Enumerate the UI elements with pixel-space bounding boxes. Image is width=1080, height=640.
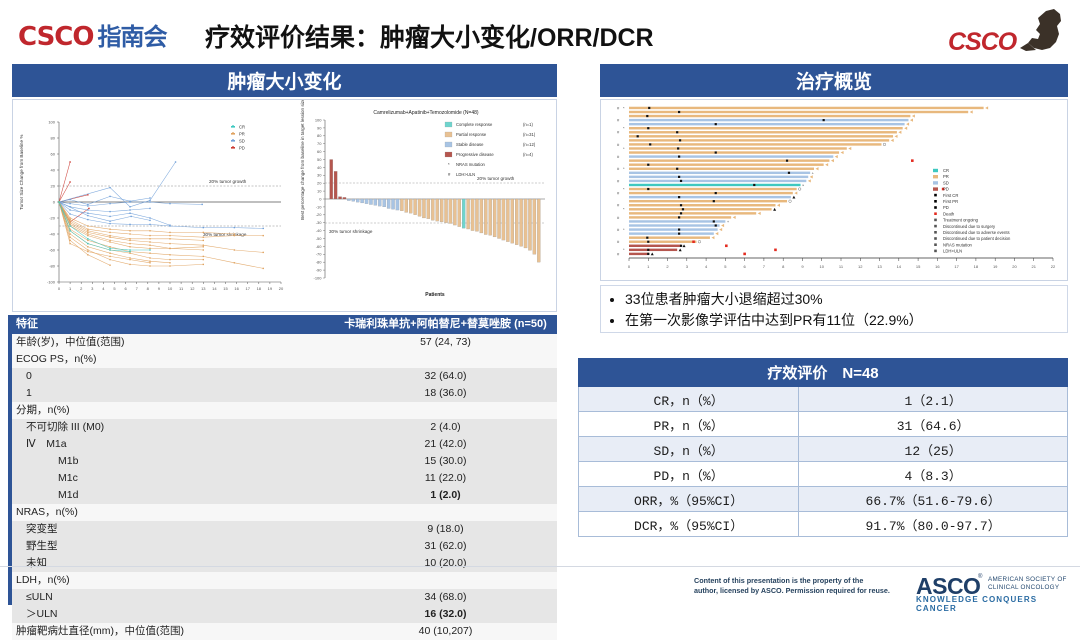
svg-text:14: 14 [897, 264, 902, 269]
svg-text:30: 30 [317, 173, 322, 178]
svg-text:PD: PD [943, 187, 949, 192]
table-row: M1c11 (22.0) [12, 470, 557, 487]
svg-text:16: 16 [234, 286, 239, 291]
svg-text:#: # [617, 227, 620, 232]
svg-text:#: # [617, 105, 620, 110]
footer-divider [0, 566, 1080, 567]
csco-mark-text: CSCO [948, 28, 1016, 57]
svg-text:#: # [617, 251, 620, 256]
svg-text:20: 20 [1012, 264, 1017, 269]
bullet-item: 33位患者肿瘤大小退缩超过30% [625, 289, 1061, 310]
efficacy-value: 31（64.6） [799, 412, 1068, 437]
svg-text:50: 50 [317, 157, 322, 162]
table-row: 突变型9 (18.0) [12, 521, 557, 538]
svg-text:80: 80 [51, 136, 56, 141]
svg-text:4: 4 [102, 286, 105, 291]
svg-text:*: * [448, 162, 450, 167]
svg-text:PD: PD [943, 205, 949, 210]
svg-text:Discontinued due to patient de: Discontinued due to patient decision [943, 236, 1011, 241]
svg-text:10: 10 [168, 286, 173, 291]
row-value: 40 (10,207) [334, 623, 557, 640]
svg-text:#: # [617, 166, 620, 171]
svg-text:CR: CR [943, 168, 949, 173]
svg-text:#: # [617, 239, 620, 244]
row-label: 0 [12, 368, 334, 385]
table-row: 不可切除 III (M0)2 (4.0) [12, 419, 557, 436]
svg-text:-60: -60 [316, 244, 323, 249]
row-value: 32 (64.0) [334, 368, 557, 385]
svg-text:17: 17 [954, 264, 959, 269]
svg-text:20: 20 [279, 286, 284, 291]
svg-text:40: 40 [317, 165, 322, 170]
svg-text:11: 11 [839, 264, 844, 269]
panel-left-title: 肿瘤大小变化 [227, 67, 341, 94]
svg-text:*: * [623, 126, 625, 131]
footer-note-line2: author, licensed by ASCO. Permission req… [694, 586, 894, 596]
svg-text:12: 12 [858, 264, 863, 269]
row-value [334, 572, 557, 589]
annotation-tumor-growth: 20% tumor growth [209, 179, 247, 184]
svg-text:First CR: First CR [943, 193, 958, 198]
svg-text:*: * [623, 247, 625, 252]
svg-text:(n=4): (n=4) [523, 152, 533, 157]
csco-beast-icon [1016, 8, 1064, 54]
efficacy-value: 66.7%（51.6-79.6） [799, 487, 1068, 512]
efficacy-row: SD，n（%）12（25） [579, 437, 1068, 462]
row-value: 16 (32.0) [334, 606, 557, 623]
svg-text:11: 11 [179, 286, 184, 291]
row-label: Ⅳ M1a [12, 436, 334, 453]
svg-text:90: 90 [317, 125, 322, 130]
svg-text:*: * [623, 166, 625, 171]
efficacy-label: ORR，%（95%CI） [579, 487, 799, 512]
efficacy-row: PD，n（%）4（8.3） [579, 462, 1068, 487]
efficacy-label: SD，n（%） [579, 437, 799, 462]
efficacy-label: CR，n（%） [579, 387, 799, 412]
svg-text:6: 6 [124, 286, 127, 291]
row-label: 肿瘤靶病灶直径(mm)，中位值(范围) [12, 623, 334, 640]
row-value: 57 (24, 73) [334, 334, 557, 351]
svg-text:1: 1 [647, 264, 650, 269]
svg-text:10: 10 [820, 264, 825, 269]
svg-text:100: 100 [48, 120, 55, 125]
table-row: ECOG PS，n(%) [12, 351, 557, 368]
asco-sub-line1: AMERICAN SOCIETY OF [988, 576, 1067, 583]
row-label: ECOG PS，n(%) [12, 351, 334, 368]
svg-text:21: 21 [1032, 264, 1037, 269]
asco-logo: ASCO ® AMERICAN SOCIETY OF CLINICAL ONCO… [916, 573, 1076, 603]
svg-text:15: 15 [223, 286, 228, 291]
table-row: 分期，n(%) [12, 402, 557, 419]
svg-text:PR: PR [943, 174, 949, 179]
table-row: M1d1 (2.0) [12, 487, 557, 504]
row-label: M1b [12, 453, 334, 470]
svg-text:LDH>ULN: LDH>ULN [943, 249, 962, 254]
svg-text:+: + [727, 219, 730, 224]
svg-text:Progressive disease: Progressive disease [456, 152, 494, 157]
col-header-arm: 卡瑞利珠单抗+阿帕替尼+替莫唑胺 (n=50) [334, 315, 557, 334]
row-value: 9 (18.0) [334, 521, 557, 538]
svg-text:-80: -80 [49, 264, 56, 269]
svg-text:17: 17 [245, 286, 250, 291]
row-value: 10 (20.0) [334, 555, 557, 572]
efficacy-value: 1（2.1） [799, 387, 1068, 412]
row-label: 突变型 [12, 521, 334, 538]
svg-text:CR: CR [239, 125, 245, 130]
svg-text:10: 10 [317, 189, 322, 194]
svg-text:#: # [617, 215, 620, 220]
efficacy-row: DCR，%（95%CI）91.7%（80.0-97.7） [579, 512, 1068, 537]
table-row: Ⅳ M1a21 (42.0) [12, 436, 557, 453]
svg-text:-20: -20 [316, 212, 323, 217]
svg-text:*: * [623, 207, 625, 212]
svg-text:-40: -40 [49, 232, 56, 237]
footer-copyright: Content of this presentation is the prop… [694, 576, 894, 595]
svg-text:18: 18 [974, 264, 979, 269]
svg-text:-100: -100 [313, 275, 322, 280]
svg-text:#: # [617, 203, 620, 208]
svg-text:Discontinued due to adverse ev: Discontinued due to adverse events [943, 230, 1010, 235]
svg-text:SD: SD [239, 139, 245, 144]
svg-text:0: 0 [58, 286, 61, 291]
svg-text:#: # [617, 118, 620, 123]
svg-text:0: 0 [628, 264, 631, 269]
efficacy-table: 疗效评价 N=48CR，n（%）1（2.1）PR，n（%）31（64.6）SD，… [578, 358, 1068, 537]
svg-text:5: 5 [724, 264, 727, 269]
svg-text:Complete response: Complete response [456, 122, 493, 127]
svg-text:7: 7 [136, 286, 139, 291]
row-label: 未知 [12, 555, 334, 572]
table-row: 118 (36.0) [12, 385, 557, 402]
row-label: LDH，n(%) [12, 572, 334, 589]
wf-annotation-shrinkage: 30% tumor shrinkage [329, 229, 373, 234]
svg-text:3: 3 [686, 264, 689, 269]
table-row: 野生型31 (62.0) [12, 538, 557, 555]
svg-text:15: 15 [916, 264, 921, 269]
efficacy-label: PR，n（%） [579, 412, 799, 437]
efficacy-row: CR，n（%）1（2.1） [579, 387, 1068, 412]
row-label: 野生型 [12, 538, 334, 555]
key-findings: 33位患者肿瘤大小退缩超过30%在第一次影像学评估中达到PR有11位（22.9%… [600, 285, 1068, 333]
svg-text:60: 60 [317, 149, 322, 154]
asco-trademark: ® [978, 574, 982, 580]
table-row: NRAS，n(%) [12, 504, 557, 521]
svg-text:*: * [623, 186, 625, 191]
row-label: M1d [12, 487, 334, 504]
svg-text:9: 9 [158, 286, 161, 291]
svg-text:Partial response: Partial response [456, 132, 487, 137]
svg-text:60: 60 [51, 152, 56, 157]
svg-text:12: 12 [190, 286, 195, 291]
row-value: 34 (68.0) [334, 589, 557, 606]
table-row: 肿瘤靶病灶直径(mm)，中位值(范围)40 (10,207) [12, 623, 557, 640]
row-value [334, 504, 557, 521]
guide-logo-text: 指南会 [97, 24, 166, 51]
efficacy-value: 12（25） [799, 437, 1068, 462]
svg-text:8: 8 [782, 264, 785, 269]
svg-text:NRAS mutation: NRAS mutation [943, 242, 973, 247]
svg-text:13: 13 [201, 286, 206, 291]
svg-text:-100: -100 [47, 280, 56, 285]
footer-note-line1: Content of this presentation is the prop… [694, 576, 894, 586]
svg-text:20: 20 [317, 181, 322, 186]
svg-text:SD: SD [943, 180, 949, 185]
svg-text:7: 7 [763, 264, 766, 269]
row-label: 1 [12, 385, 334, 402]
characteristics-table: 特征卡瑞利珠单抗+阿帕替尼+替莫唑胺 (n=50)年龄(岁)，中位值(范围)57… [12, 315, 557, 640]
row-label: 分期，n(%) [12, 402, 334, 419]
svg-text:*: * [623, 146, 625, 151]
efficacy-label: DCR，%（95%CI） [579, 512, 799, 537]
asco-subtitle: AMERICAN SOCIETY OF CLINICAL ONCOLOGY [988, 576, 1067, 592]
svg-text:+: + [812, 170, 815, 175]
row-value: 11 (22.0) [334, 470, 557, 487]
efficacy-row: PR，n（%）31（64.6） [579, 412, 1068, 437]
row-label: 年龄(岁)，中位值(范围) [12, 334, 334, 351]
table-row: 年龄(岁)，中位值(范围)57 (24, 73) [12, 334, 557, 351]
efficacy-row: ORR，%（95%CI）66.7%（51.6-79.6） [579, 487, 1068, 512]
svg-text:18: 18 [257, 286, 262, 291]
efficacy-header-row: 疗效评价 N=48 [579, 359, 1068, 387]
table-row: M1b15 (30.0) [12, 453, 557, 470]
waterfall-y-axis-label: Best percentage change from baseline in … [300, 100, 305, 220]
spider-plot: 01234567891011121314151617181920-100-80-… [13, 100, 295, 313]
svg-text:(n=1): (n=1) [523, 122, 533, 127]
efficacy-header-text: 疗效评价 N=48 [579, 359, 1068, 387]
svg-text:22: 22 [1051, 264, 1056, 269]
svg-text:*: * [623, 227, 625, 232]
svg-text:LDH>ULN: LDH>ULN [456, 172, 475, 177]
svg-text:-60: -60 [49, 248, 56, 253]
row-value [334, 351, 557, 368]
svg-text:100: 100 [315, 117, 322, 122]
svg-text:*: * [623, 105, 625, 110]
row-value: 2 (4.0) [334, 419, 557, 436]
row-value [334, 402, 557, 419]
asco-tagline: KNOWLEDGE CONQUERS CANCER [916, 595, 1076, 613]
csco-logo-text: CSCO [18, 22, 93, 52]
wf-annotation-growth: 20% tumor growth [477, 176, 515, 181]
svg-text:Treatment ongoing: Treatment ongoing [943, 218, 979, 223]
svg-text:(n=12): (n=12) [523, 142, 536, 147]
svg-text:Discontinued due to surgery: Discontinued due to surgery [943, 224, 996, 229]
bullet-item: 在第一次影像学评估中达到PR有11位（22.9%） [625, 310, 1061, 331]
efficacy-label: PD，n（%） [579, 462, 799, 487]
svg-text:Death: Death [943, 211, 955, 216]
svg-text:9: 9 [801, 264, 804, 269]
row-value: 21 (42.0) [334, 436, 557, 453]
row-value: 1 (2.0) [334, 487, 557, 504]
csco-guide-logo: CSCO指南会 [18, 17, 166, 52]
svg-text:8: 8 [147, 286, 150, 291]
svg-text:-40: -40 [316, 228, 323, 233]
table-header-row: 特征卡瑞利珠单抗+阿帕替尼+替莫唑胺 (n=50) [12, 315, 557, 334]
svg-text:Stable disease: Stable disease [456, 142, 484, 147]
row-label: NRAS，n(%) [12, 504, 334, 521]
svg-text:#: # [448, 172, 451, 177]
svg-text:#: # [617, 178, 620, 183]
waterfall-plot: Camrelizumab+Apatinib+Temozolomide (N=48… [295, 100, 557, 313]
col-header-feature: 特征 [12, 315, 334, 334]
svg-text:-20: -20 [49, 216, 56, 221]
svg-text:16: 16 [935, 264, 940, 269]
svg-text:-50: -50 [316, 236, 323, 241]
waterfall-x-axis-label: Patients [425, 292, 445, 298]
table-row: ≤ULN34 (68.0) [12, 589, 557, 606]
table-row: 未知10 (20.0) [12, 555, 557, 572]
efficacy-value: 91.7%（80.0-97.7） [799, 512, 1068, 537]
svg-text:13: 13 [877, 264, 882, 269]
svg-text:2: 2 [80, 286, 83, 291]
row-value: 15 (30.0) [334, 453, 557, 470]
row-label: M1c [12, 470, 334, 487]
row-label: 不可切除 III (M0) [12, 419, 334, 436]
svg-text:40: 40 [51, 168, 56, 173]
svg-text:2: 2 [666, 264, 669, 269]
spider-y-axis-label: Tumor Size Change from Baseline % [19, 135, 24, 210]
svg-text:(n=31): (n=31) [523, 132, 536, 137]
panel-right-title: 治疗概览 [796, 67, 872, 94]
svg-text:14: 14 [212, 286, 217, 291]
slide-header: CSCO指南会 疗效评价结果：肿瘤大小变化/ORR/DCR CSCO [0, 0, 1080, 58]
svg-text:First PR: First PR [943, 199, 958, 204]
table-row: 032 (64.0) [12, 368, 557, 385]
svg-text:19: 19 [993, 264, 998, 269]
svg-text:0: 0 [319, 196, 322, 201]
svg-text:1: 1 [69, 286, 72, 291]
svg-text:-10: -10 [316, 204, 323, 209]
efficacy-value: 4（8.3） [799, 462, 1068, 487]
tumor-size-charts: 01234567891011121314151617181920-100-80-… [12, 99, 557, 312]
page-title: 疗效评价结果：肿瘤大小变化/ORR/DCR [205, 18, 654, 54]
row-label: ≤ULN [12, 589, 334, 606]
row-value: 18 (36.0) [334, 385, 557, 402]
table-row: ＞ULN16 (32.0) [12, 606, 557, 623]
csco-brand-mark: CSCO [948, 8, 1068, 56]
svg-text:3: 3 [91, 286, 94, 291]
svg-text:4: 4 [705, 264, 708, 269]
svg-text:NRAS mutation: NRAS mutation [456, 162, 486, 167]
row-value: 31 (62.0) [334, 538, 557, 555]
svg-text:19: 19 [268, 286, 273, 291]
svg-text:-90: -90 [316, 268, 323, 273]
svg-text:-30: -30 [316, 220, 323, 225]
svg-text:×: × [802, 183, 805, 188]
swimmer-plot: 012345678910111213141516171819202122 #*#… [600, 99, 1068, 281]
svg-text:-70: -70 [316, 252, 323, 257]
panel-header-tumor-size: 肿瘤大小变化 [12, 64, 557, 97]
svg-text:-80: -80 [316, 260, 323, 265]
svg-text:PD: PD [239, 146, 245, 151]
table-row: LDH，n(%) [12, 572, 557, 589]
svg-text:0: 0 [53, 200, 56, 205]
svg-text:6: 6 [744, 264, 747, 269]
svg-text:20: 20 [51, 184, 56, 189]
svg-text:PR: PR [239, 132, 245, 137]
svg-text:5: 5 [113, 286, 116, 291]
svg-text:80: 80 [317, 133, 322, 138]
svg-text:70: 70 [317, 141, 322, 146]
waterfall-title: Camrelizumab+Apatinib+Temozolomide (N=48… [373, 110, 479, 116]
svg-text:#: # [617, 190, 620, 195]
svg-text:#: # [617, 142, 620, 147]
svg-text:#: # [617, 130, 620, 135]
panel-header-treatment-overview: 治疗概览 [600, 64, 1068, 97]
row-label: ＞ULN [12, 606, 334, 623]
svg-text:#: # [617, 154, 620, 159]
asco-sub-line2: CLINICAL ONCOLOGY [988, 584, 1059, 591]
